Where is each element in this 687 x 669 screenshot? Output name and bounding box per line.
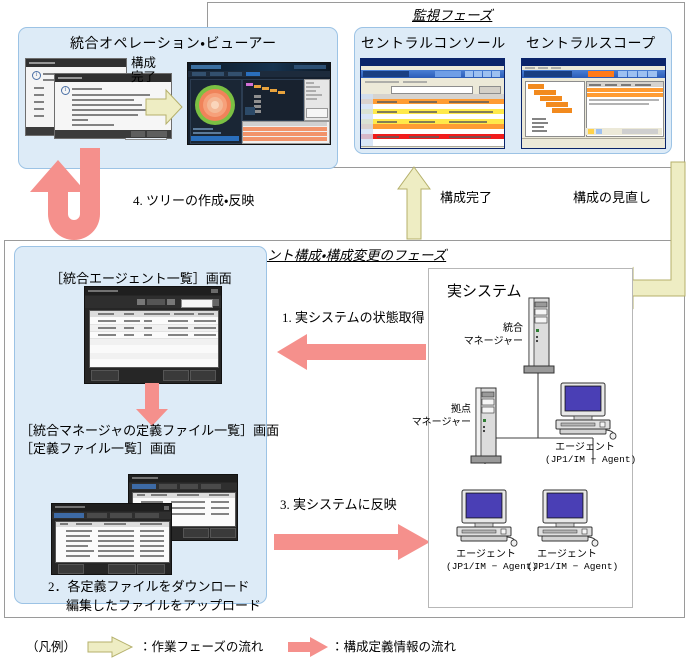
central-scope-screenshot[interactable] [521,58,666,149]
monitoring-phase-title: 監視フェーズ [412,4,492,24]
integrated-manager-server-icon [523,298,555,376]
legend-item-2-text: ：構成定義情報の流れ [331,636,456,655]
central-scope-title: セントラルスコープ [526,33,656,53]
site-manager-server-icon [470,388,502,466]
agent-bottom-left-label: エージェント (JP1/IM − Agent) [446,548,526,573]
agent-pc-right-icon [554,383,616,439]
central-console-screenshot[interactable] [360,58,505,149]
reflect-pink-right-arrow [272,522,432,562]
site-manager-label: 拠点 マネージャー [411,403,471,429]
agent-right-label-line1: エージェント [545,441,625,454]
step2-line2: 編集したファイルをアップロード [48,597,261,616]
site-manager-label-line1: 拠点 [411,403,471,416]
step4-label: 4. ツリーの作成・反映 [133,193,254,209]
agent-right-label-line2: (JP1/IM − Agent) [545,454,625,466]
agent-list-screenshot[interactable] [84,286,222,384]
site-manager-label-line2: マネージャー [411,416,471,429]
agent-list-screen-label: ［統合エージェント一覧］画面 [50,271,232,287]
config-complete-flow-label: 構成完了 [440,190,492,206]
legend-item-1-text: ：作業フェーズの流れ [139,636,263,655]
config-complete-label-small: 構成 完了 [131,56,156,85]
step2-label: 2．各定義ファイルをダウンロード 編集したファイルをアップロード [48,578,261,616]
legend-title: （凡例） [26,636,76,655]
tree-reflect-u-arrow [28,148,114,260]
def-file-list-label-2: ［定義ファイル一覧］画面 [20,441,176,457]
config-complete-up-arrow [397,165,433,241]
agent-right-label: エージェント (JP1/IM − Agent) [545,441,625,466]
step2-line1: 2．各定義ファイルをダウンロード [48,578,261,597]
config-complete-line2: 完了 [131,70,156,84]
agent-bottom-right-label-line1: エージェント [527,548,607,561]
step3-label: 3. 実システムに反映 [280,497,397,513]
agent-bottom-left-label-line1: エージェント [446,548,526,561]
integrated-manager-label-line1: 統合 [463,322,523,335]
agent-pc-bottom-left-icon [455,490,517,546]
def-file-list-screenshot-front[interactable] [51,503,172,575]
operation-viewer-title: 統合オペレーション・ビューアー [70,33,277,53]
config-complete-line1: 構成 [131,56,156,70]
config-complete-yellow-arrow-small [144,88,184,126]
def-file-list-label-1: ［統合マネージャの定義ファイル一覧］画面 [20,423,279,439]
central-console-title: セントラルコンソール [361,33,506,53]
agent-bottom-right-label-line2: (JP1/IM − Agent) [527,561,607,573]
legend: （凡例） ：作業フェーズの流れ ：構成定義情報の流れ [14,630,574,660]
integrated-manager-label: 統合 マネージャー [463,322,523,348]
agent-pc-bottom-right-icon [536,490,598,546]
yellow-arrow-icon [86,636,134,658]
agent-bottom-left-label-line2: (JP1/IM − Agent) [446,561,526,573]
pink-arrow-icon [286,636,330,658]
download-pink-down-arrow [134,383,170,427]
agent-bottom-right-label: エージェント (JP1/IM − Agent) [527,548,607,573]
operation-viewer-screenshot[interactable] [187,62,331,145]
integrated-manager-label-line2: マネージャー [463,335,523,348]
state-acquire-pink-left-arrow [275,333,428,371]
step1-label: 1. 実システムの状態取得 [282,310,425,326]
config-review-flow-label: 構成の見直し [573,190,651,206]
